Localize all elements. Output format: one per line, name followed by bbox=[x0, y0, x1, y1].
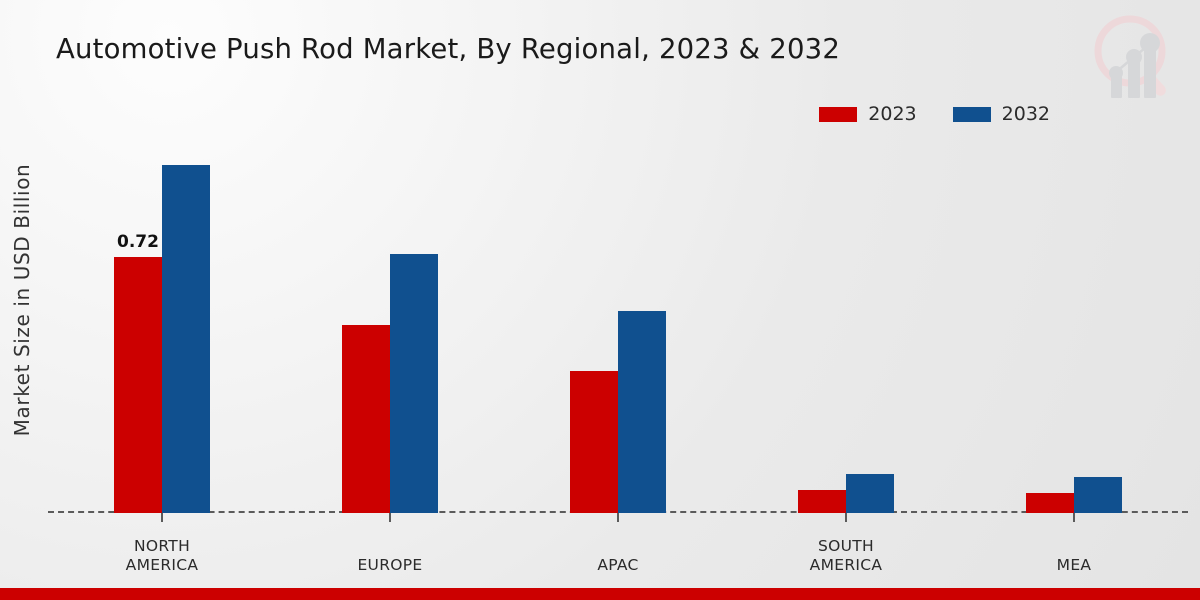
bar-2023[interactable] bbox=[570, 371, 618, 513]
bars bbox=[732, 140, 960, 513]
y-axis-title: Market Size in USD Billion bbox=[0, 0, 44, 600]
magnifier-bar-chart-logo-icon bbox=[1080, 6, 1184, 110]
bar-group: MEA bbox=[960, 140, 1188, 513]
chart-container: Automotive Push Rod Market, By Regional,… bbox=[0, 0, 1200, 600]
bar-2032[interactable] bbox=[162, 165, 210, 513]
bar-2032[interactable] bbox=[390, 254, 438, 513]
bar-group: 0.72NORTHAMERICA bbox=[48, 140, 276, 513]
bars: 0.72 bbox=[48, 140, 276, 513]
legend-item-2032[interactable]: 2032 bbox=[953, 103, 1050, 125]
bar-2023[interactable]: 0.72 bbox=[114, 257, 162, 513]
bar-2032[interactable] bbox=[1074, 477, 1122, 513]
axis-tick bbox=[1073, 513, 1075, 522]
category-label: MEA bbox=[979, 556, 1169, 575]
axis-tick bbox=[617, 513, 619, 522]
category-label: SOUTHAMERICA bbox=[751, 537, 941, 575]
chart-legend: 2023 2032 bbox=[819, 103, 1050, 125]
bar-group: EUROPE bbox=[276, 140, 504, 513]
chart-title: Automotive Push Rod Market, By Regional,… bbox=[56, 33, 840, 65]
category-label: NORTHAMERICA bbox=[67, 537, 257, 575]
bar-group: APAC bbox=[504, 140, 732, 513]
legend-label-2032: 2032 bbox=[1002, 103, 1050, 125]
category-label: EUROPE bbox=[295, 556, 485, 575]
axis-tick bbox=[845, 513, 847, 522]
footer-accent-bar bbox=[0, 588, 1200, 600]
bars bbox=[504, 140, 732, 513]
legend-label-2023: 2023 bbox=[868, 103, 916, 125]
bars bbox=[960, 140, 1188, 513]
bar-group: SOUTHAMERICA bbox=[732, 140, 960, 513]
plot-area: 0.72NORTHAMERICAEUROPEAPACSOUTHAMERICAME… bbox=[48, 140, 1188, 513]
legend-swatch-2023-icon bbox=[819, 107, 857, 122]
legend-item-2023[interactable]: 2023 bbox=[819, 103, 916, 125]
bar-2023[interactable] bbox=[798, 490, 846, 513]
bar-2032[interactable] bbox=[846, 474, 894, 513]
bar-value-label: 0.72 bbox=[117, 232, 159, 252]
bar-2032[interactable] bbox=[618, 311, 666, 513]
bars bbox=[276, 140, 504, 513]
bar-2023[interactable] bbox=[1026, 493, 1074, 513]
axis-tick bbox=[161, 513, 163, 522]
axis-tick bbox=[389, 513, 391, 522]
bar-2023[interactable] bbox=[342, 325, 390, 513]
legend-swatch-2032-icon bbox=[953, 107, 991, 122]
category-label: APAC bbox=[523, 556, 713, 575]
